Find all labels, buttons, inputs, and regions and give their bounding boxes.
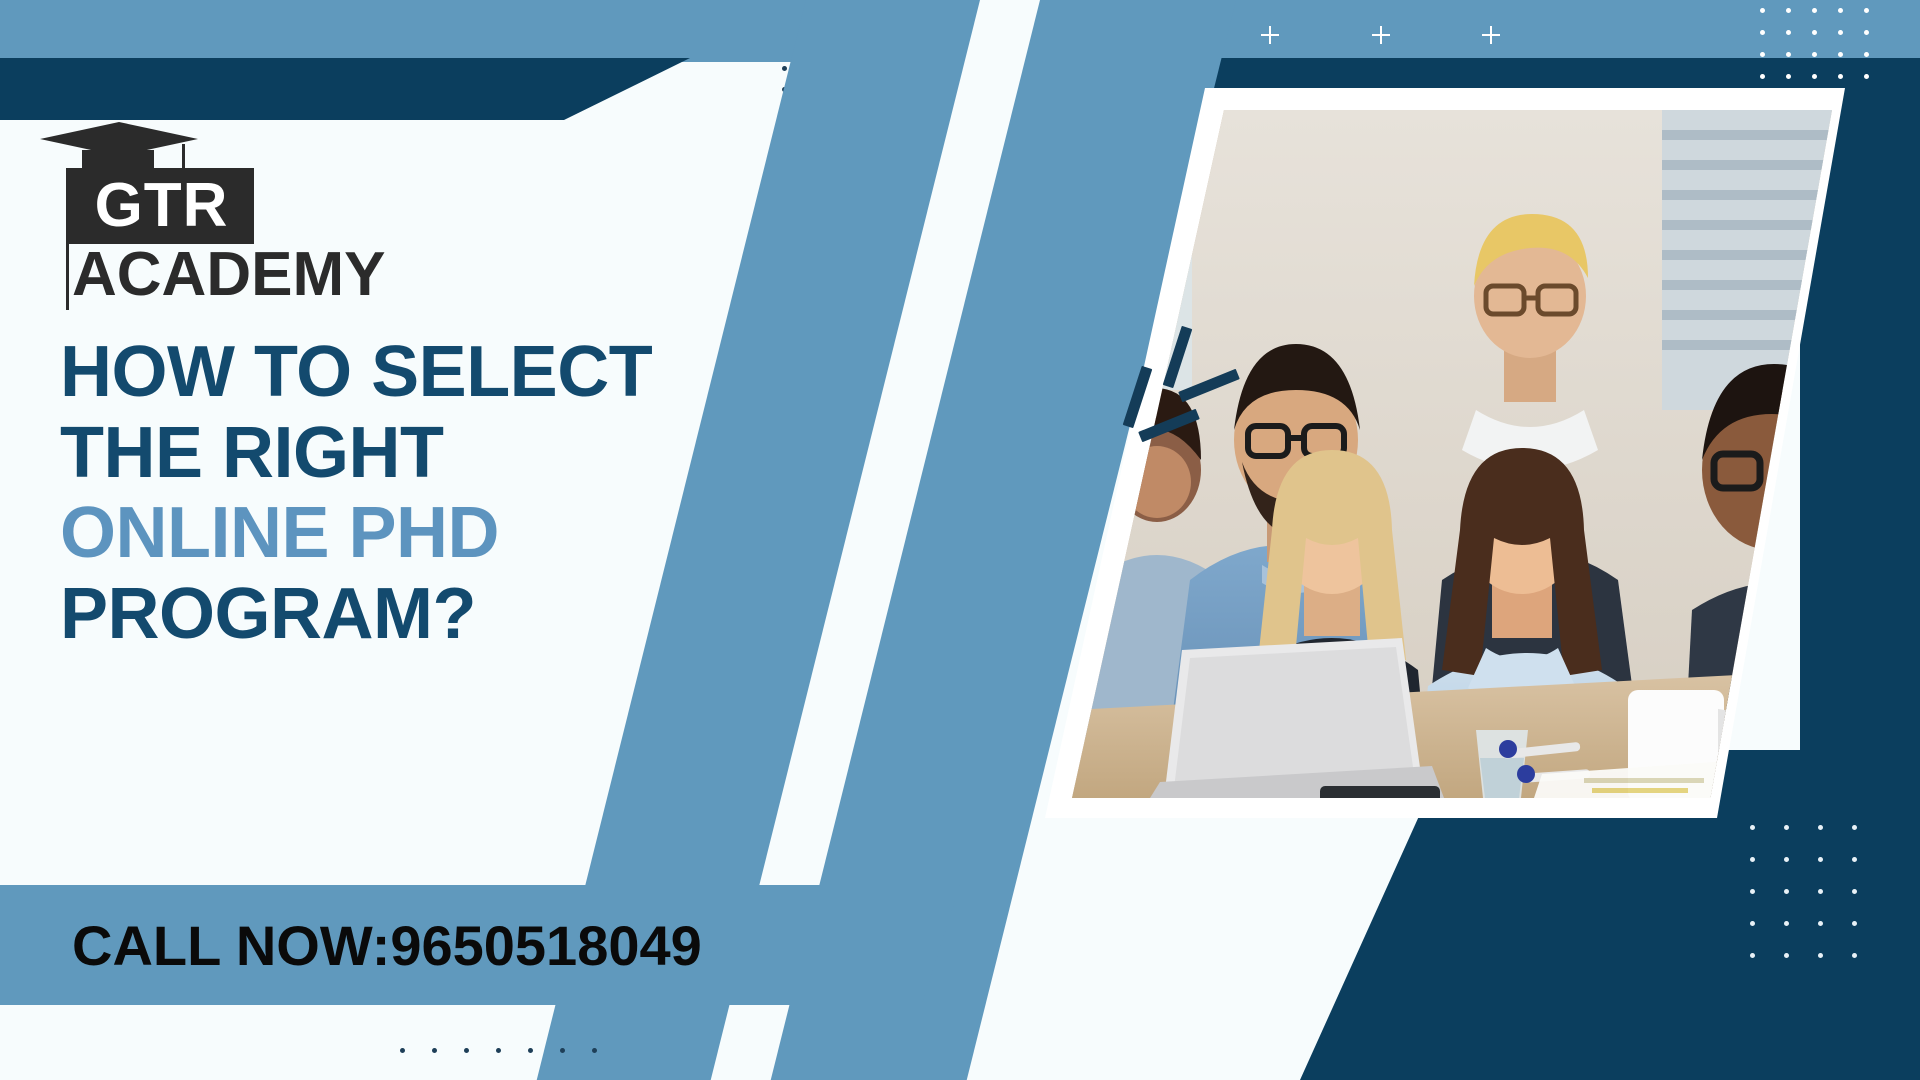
dot bbox=[432, 1048, 437, 1053]
graduation-cap-icon bbox=[40, 114, 200, 174]
dot bbox=[1818, 953, 1823, 958]
dot bbox=[592, 1048, 597, 1053]
dot bbox=[496, 1048, 501, 1053]
dot bbox=[1838, 8, 1843, 13]
dot bbox=[1864, 30, 1869, 35]
dot bbox=[1818, 825, 1823, 830]
dot bbox=[1784, 857, 1789, 862]
brand-logo[interactable]: GTR ACADEMY bbox=[42, 110, 472, 310]
dot bbox=[1818, 857, 1823, 862]
dot bbox=[1812, 8, 1817, 13]
dot bbox=[1784, 825, 1789, 830]
dot bbox=[1750, 921, 1755, 926]
dot bbox=[1786, 30, 1791, 35]
dot bbox=[1852, 889, 1857, 894]
dot bbox=[1760, 52, 1765, 57]
dot-grid-bottom-right bbox=[1750, 825, 1890, 975]
logo-gtr-box: GTR bbox=[69, 168, 254, 244]
dot bbox=[1812, 30, 1817, 35]
dot bbox=[528, 1048, 533, 1053]
headline-line-1: HOW TO SELECT bbox=[60, 332, 820, 413]
plus-icon bbox=[1372, 26, 1390, 44]
headline-line-2: THE RIGHT bbox=[60, 413, 820, 494]
dot bbox=[1750, 889, 1755, 894]
dot bbox=[1838, 30, 1843, 35]
headline-block: HOW TO SELECT THE RIGHT ONLINE PHD PROGR… bbox=[60, 332, 820, 655]
logo-gtr-text: GTR bbox=[95, 175, 229, 237]
dot bbox=[1864, 8, 1869, 13]
logo-academy-text: ACADEMY bbox=[72, 244, 385, 306]
plus-icon bbox=[1261, 26, 1279, 44]
dot bbox=[464, 1048, 469, 1053]
dot bbox=[1852, 953, 1857, 958]
call-now-bar[interactable]: CALL NOW:9650518049 bbox=[0, 885, 942, 1005]
dot bbox=[1818, 889, 1823, 894]
dot bbox=[1786, 52, 1791, 57]
dot bbox=[1760, 8, 1765, 13]
dot-row-bottom-left bbox=[400, 1048, 610, 1062]
dot bbox=[1812, 74, 1817, 79]
dot-grid-top-right bbox=[1760, 8, 1890, 88]
dot bbox=[782, 66, 787, 71]
dot bbox=[1812, 52, 1817, 57]
plus-icon bbox=[1482, 26, 1500, 44]
dot bbox=[400, 1048, 405, 1053]
dot bbox=[1750, 953, 1755, 958]
dot bbox=[1838, 74, 1843, 79]
dot bbox=[1852, 921, 1857, 926]
headline-line-3: ONLINE PHD bbox=[60, 493, 820, 574]
dot bbox=[1786, 74, 1791, 79]
call-now-text[interactable]: CALL NOW:9650518049 bbox=[72, 913, 702, 978]
dot bbox=[1784, 889, 1789, 894]
dot bbox=[1784, 953, 1789, 958]
poster-canvas: GTR ACADEMY HOW TO SELECT THE RIGHT ONLI… bbox=[0, 0, 1920, 1080]
dot bbox=[1818, 921, 1823, 926]
dot bbox=[1760, 74, 1765, 79]
dot bbox=[1786, 8, 1791, 13]
dot bbox=[1852, 825, 1857, 830]
dot bbox=[1760, 30, 1765, 35]
dot bbox=[1750, 825, 1755, 830]
dot bbox=[1838, 52, 1843, 57]
dot bbox=[1784, 921, 1789, 926]
dot bbox=[1864, 52, 1869, 57]
dot bbox=[1750, 857, 1755, 862]
dot bbox=[1852, 857, 1857, 862]
dot bbox=[1864, 74, 1869, 79]
double-chevron-down-left-icon bbox=[1138, 330, 1248, 435]
dot bbox=[560, 1048, 565, 1053]
headline-line-4: PROGRAM? bbox=[60, 574, 820, 655]
